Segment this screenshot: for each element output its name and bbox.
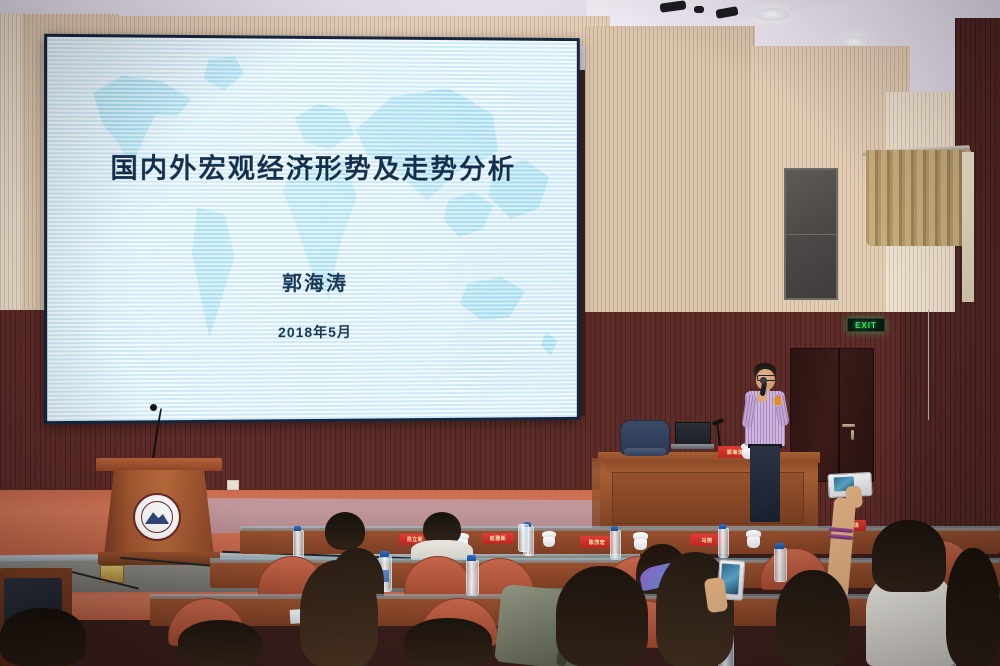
audience-head-foreground: [0, 608, 86, 666]
window-curtain: [866, 150, 971, 246]
water-bottle: [518, 524, 529, 552]
laptop-keyboard-base[interactable]: [671, 444, 714, 449]
ceiling-spotlight: [694, 6, 704, 13]
window-light-gap: [962, 152, 974, 302]
exit-sign: EXIT: [847, 318, 885, 332]
namecard-text: 陈茂宏: [589, 539, 606, 546]
water-bottle: [718, 528, 729, 558]
podium-microphone-head: [150, 404, 157, 411]
hanging-cable: [928, 310, 929, 420]
recessed-downlight: [755, 8, 789, 21]
audience-head-foreground: [404, 618, 492, 666]
namecard-text: 郭海涛: [727, 449, 744, 456]
slide-title: 国内外宏观经济形势及走势分析: [47, 146, 577, 186]
audience-teacup: [543, 536, 555, 547]
wall-slat-panel-left-edge: [0, 14, 22, 314]
door-handle[interactable]: [842, 424, 855, 427]
slide-date: 2018年5月: [47, 321, 577, 343]
crest-inner-ring: [141, 501, 174, 534]
audience-namecard: 赵雅新: [482, 533, 514, 544]
water-bottle-cap: [611, 526, 618, 531]
exit-sign-label: EXIT: [855, 321, 877, 330]
map-greenland: [200, 56, 244, 90]
projection-screen: 国内外宏观经济形势及走势分析 郭海涛 2018年5月: [44, 34, 580, 424]
audience-head-foreground: [178, 620, 262, 666]
audience-head: [325, 512, 365, 550]
door-lock-cylinder: [851, 430, 854, 440]
water-bottle-cap: [719, 524, 726, 529]
audience-namecard: 陈茂宏: [580, 536, 614, 548]
presenter-desk-side: [592, 458, 606, 532]
water-bottle-cap: [294, 526, 301, 531]
presenter-clicker: [775, 396, 781, 405]
audience-head-foreground: [300, 560, 378, 666]
water-bottle: [466, 560, 479, 596]
wall-switch-plate[interactable]: [227, 480, 239, 490]
wainscot-right-shadow: [900, 312, 1000, 542]
projected-slide: 国内外宏观经济形势及走势分析 郭海涛 2018年5月: [47, 37, 577, 421]
presenter-microphone-head: [760, 377, 767, 384]
audience-hand-grip: [845, 485, 863, 509]
presenter-chair-seat: [624, 448, 666, 456]
water-bottle-cap: [775, 543, 784, 549]
audience-teacup-lid: [542, 531, 556, 537]
water-bottle: [774, 548, 787, 582]
audience-teacup: [747, 536, 760, 548]
wall-speaker-panel: [784, 168, 838, 300]
water-bottle-cap: [467, 555, 476, 561]
water-bottle: [610, 530, 621, 560]
audience-teacup-lid: [633, 532, 648, 539]
audience-teacup-lid: [746, 530, 761, 537]
audience-head-foreground: [556, 566, 648, 666]
audience-head-foreground: [776, 570, 850, 666]
water-bottle-cap: [380, 551, 389, 557]
namecard-text: 马丽: [701, 537, 712, 544]
crest-mountain-glyph: [145, 511, 170, 525]
wall-slat-panel-center: [585, 26, 755, 314]
map-asia: [350, 87, 498, 205]
podium-top-surface: [96, 458, 222, 471]
presenter-trouser-split: [764, 470, 766, 522]
auditorium-photo: EXIT 国内外宏观经济形势及走势分析 郭海涛 2018年5月: [0, 0, 1000, 666]
podium-crest-emblem: [133, 493, 181, 541]
namecard-text: 赵雅新: [490, 535, 507, 542]
door-center-split: [838, 348, 840, 480]
audience-head-foreground: [872, 520, 946, 592]
audience-teacup: [634, 538, 647, 550]
slide-author: 郭海涛: [47, 267, 577, 297]
audience-head-foreground: [946, 548, 1000, 666]
